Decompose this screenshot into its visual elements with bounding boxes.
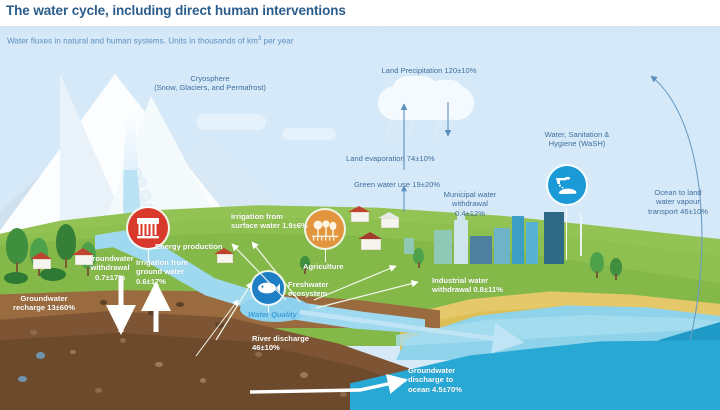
house [348, 206, 370, 220]
city-building [526, 222, 538, 264]
tree-crown [40, 268, 66, 281]
handwashing-icon [554, 173, 580, 197]
soil-pebble [120, 338, 126, 343]
label-land-evaporation: Land evaporation 74±10% [346, 154, 435, 163]
tree-crown [590, 252, 604, 273]
house-body [381, 218, 399, 228]
label-groundwater-discharge-ocean: Groundwater discharge to ocean 4.5±70% [408, 366, 462, 394]
label-ocean-to-land: Ocean to land water vapour transport 46±… [648, 188, 708, 216]
soil-pebble [18, 376, 27, 382]
label-agriculture: Agriculture [303, 262, 344, 271]
soil-pebble [176, 302, 184, 307]
house-body [351, 212, 369, 222]
tree-trunk [65, 258, 67, 268]
municipal-line3: 0.4±12% [444, 209, 497, 218]
tree [413, 248, 424, 268]
hydro-dam-icon [135, 216, 161, 240]
sky-gradient [0, 26, 720, 36]
house [358, 232, 382, 248]
industrial-line2: withdrawal 0.8±11% [432, 285, 503, 294]
label-green-water-use: Green water use 19±20% [354, 180, 440, 189]
tree-trunk [418, 262, 420, 268]
wash-line1: Water, Sanitation & [545, 130, 610, 139]
irrigation-ground-line3: 0.6±17% [136, 277, 188, 286]
municipal-line2: withdrawal [444, 199, 497, 208]
small-building [404, 238, 414, 254]
soil-pebble [300, 372, 308, 378]
house-body [217, 254, 233, 263]
industrial-line1: Industrial water [432, 276, 503, 285]
city-building [512, 216, 524, 264]
freshwater-ecosystem-icon[interactable] [252, 272, 284, 304]
gw-ocean-line3: ocean 4.5±70% [408, 385, 462, 394]
label-groundwater-withdrawal: Groundwater withdrawal 0.7±17% [86, 254, 133, 282]
tree [6, 228, 28, 272]
city-building [434, 230, 452, 264]
label-industrial-withdrawal: Industrial water withdrawal 0.8±11% [432, 276, 503, 295]
rain-cloud-bump [428, 80, 464, 106]
gw-ocean-line1: Groundwater [408, 366, 462, 375]
city-building [470, 236, 492, 264]
subtitle-text: Water fluxes in natural and human system… [7, 37, 258, 46]
wash-icon[interactable] [548, 166, 586, 204]
label-water-quality: Water Quality [248, 310, 297, 319]
freshwater-line1: Freshwater [288, 280, 329, 289]
soil-pebble [70, 350, 76, 354]
wash-icon-stem [566, 208, 567, 260]
label-wash: Water, Sanitation & Hygiene (WaSH) [545, 130, 610, 149]
house-body [361, 239, 381, 250]
ocean-land-line1: Ocean to land [648, 188, 708, 197]
wash-line2: Hygiene (WaSH) [545, 139, 610, 148]
tree-crown [6, 228, 28, 264]
tree-crown [4, 272, 28, 284]
label-river-discharge: River discharge 46±10% [252, 334, 309, 353]
river-discharge-line1: River discharge [252, 334, 309, 343]
house-roof [30, 252, 52, 259]
sky-cloud [282, 128, 336, 140]
irrigation-ground-line2: ground water [136, 267, 188, 276]
soil-pebble [148, 310, 158, 316]
header-bar: The water cycle, including direct human … [0, 0, 720, 26]
river-discharge-line2: 46±10% [252, 343, 309, 352]
label-land-precipitation: Land Precipitation 120±10% [382, 66, 477, 75]
tree-trunk [596, 271, 598, 278]
city-building [454, 220, 468, 264]
gw-withdrawal-line3: 0.7±17% [86, 273, 133, 282]
page-title: The water cycle, including direct human … [6, 3, 346, 18]
house-roof [358, 232, 382, 239]
irrigation-ground-line1: Irrigation from [136, 258, 188, 267]
label-cryosphere: Cryosphere (Snow, Glaciers, and Permafro… [154, 74, 266, 93]
soil-pebble [95, 388, 102, 393]
city-building [494, 228, 510, 264]
house [30, 252, 52, 267]
irrigation-surface-line1: Irrigation from [231, 212, 308, 221]
soil-pebble [30, 330, 37, 335]
label-freshwater-ecosystem: Freshwater ecosystem [288, 280, 329, 299]
page-subtitle: Water fluxes in natural and human system… [7, 36, 294, 46]
ocean-land-line3: transport 46±10% [648, 207, 708, 216]
water-cycle-diagram: The water cycle, including direct human … [0, 0, 720, 410]
wind-turbine-pole [580, 214, 582, 256]
fish-icon [256, 280, 280, 296]
subtitle-suffix: per year [261, 37, 293, 46]
soil-pebble [200, 378, 206, 383]
gw-recharge-line1: Groundwater [13, 294, 75, 303]
tree [40, 268, 66, 284]
tree [4, 272, 28, 286]
label-municipal-withdrawal: Municipal water withdrawal 0.4±12% [444, 190, 497, 218]
house-body [33, 259, 51, 269]
label-groundwater-recharge: Groundwater recharge 13±60% [13, 294, 75, 313]
freshwater-line2: ecosystem [288, 289, 329, 298]
house [378, 212, 400, 226]
sky-cloud [196, 114, 266, 130]
soil-pebble [36, 352, 45, 359]
soil-pebble [215, 322, 224, 328]
cryosphere-line1: Cryosphere [154, 74, 266, 83]
agriculture-icon[interactable] [306, 210, 344, 248]
label-irrigation-surface: Irrigation from surface water 1.9±6% [231, 212, 308, 231]
municipal-line1: Municipal water [444, 190, 497, 199]
agriculture-icon-stem [325, 248, 326, 262]
soil-pebble [100, 300, 107, 305]
crops-icon [311, 217, 339, 241]
tree-trunk [615, 274, 617, 280]
cryosphere-line2: (Snow, Glaciers, and Permafrost) [154, 83, 266, 92]
tree-trunk [16, 262, 18, 272]
gw-ocean-line2: discharge to [408, 375, 462, 384]
ocean-land-line2: water vapour [648, 197, 708, 206]
soil-pebble [155, 362, 163, 367]
tree [610, 258, 622, 280]
gw-withdrawal-line2: withdrawal [86, 263, 133, 272]
tree [590, 252, 604, 278]
soil-pebble [340, 392, 347, 397]
gw-recharge-line2: recharge 13±60% [13, 303, 75, 312]
gw-withdrawal-line1: Groundwater [86, 254, 133, 263]
irrigation-surface-line2: surface water 1.9±6% [231, 221, 308, 230]
label-energy-production: Energy production [155, 242, 223, 251]
city-building [544, 212, 564, 264]
label-irrigation-ground: Irrigation from ground water 0.6±17% [136, 258, 188, 286]
